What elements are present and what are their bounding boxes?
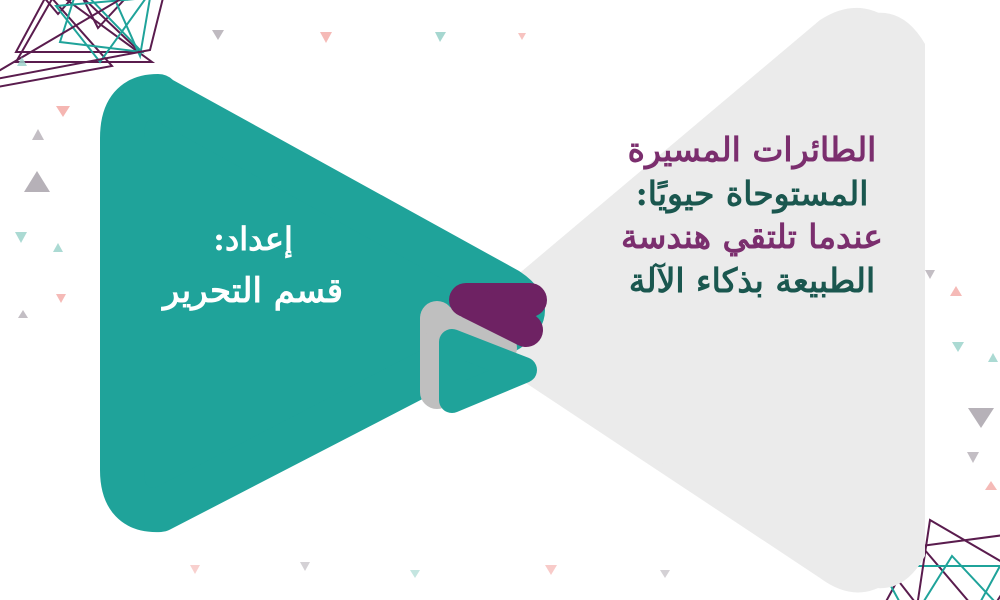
title-line-2: المستوحاة حيويًا: [562,172,942,216]
title-line-4: الطبيعة بذكاء الآلة [562,259,942,303]
poster-title: الطائرات المسيرة المستوحاة حيويًا: عندما… [562,128,942,302]
credit-value: قسم التحرير [128,265,378,318]
title-line-1: الطائرات المسيرة [562,128,942,172]
credit-label: إعداد: [128,215,378,265]
poster-canvas: الطائرات المسيرة المستوحاة حيويًا: عندما… [0,0,1000,600]
poster-credit: إعداد: قسم التحرير [128,215,378,317]
title-line-3: عندما تلتقي هندسة [562,215,942,259]
